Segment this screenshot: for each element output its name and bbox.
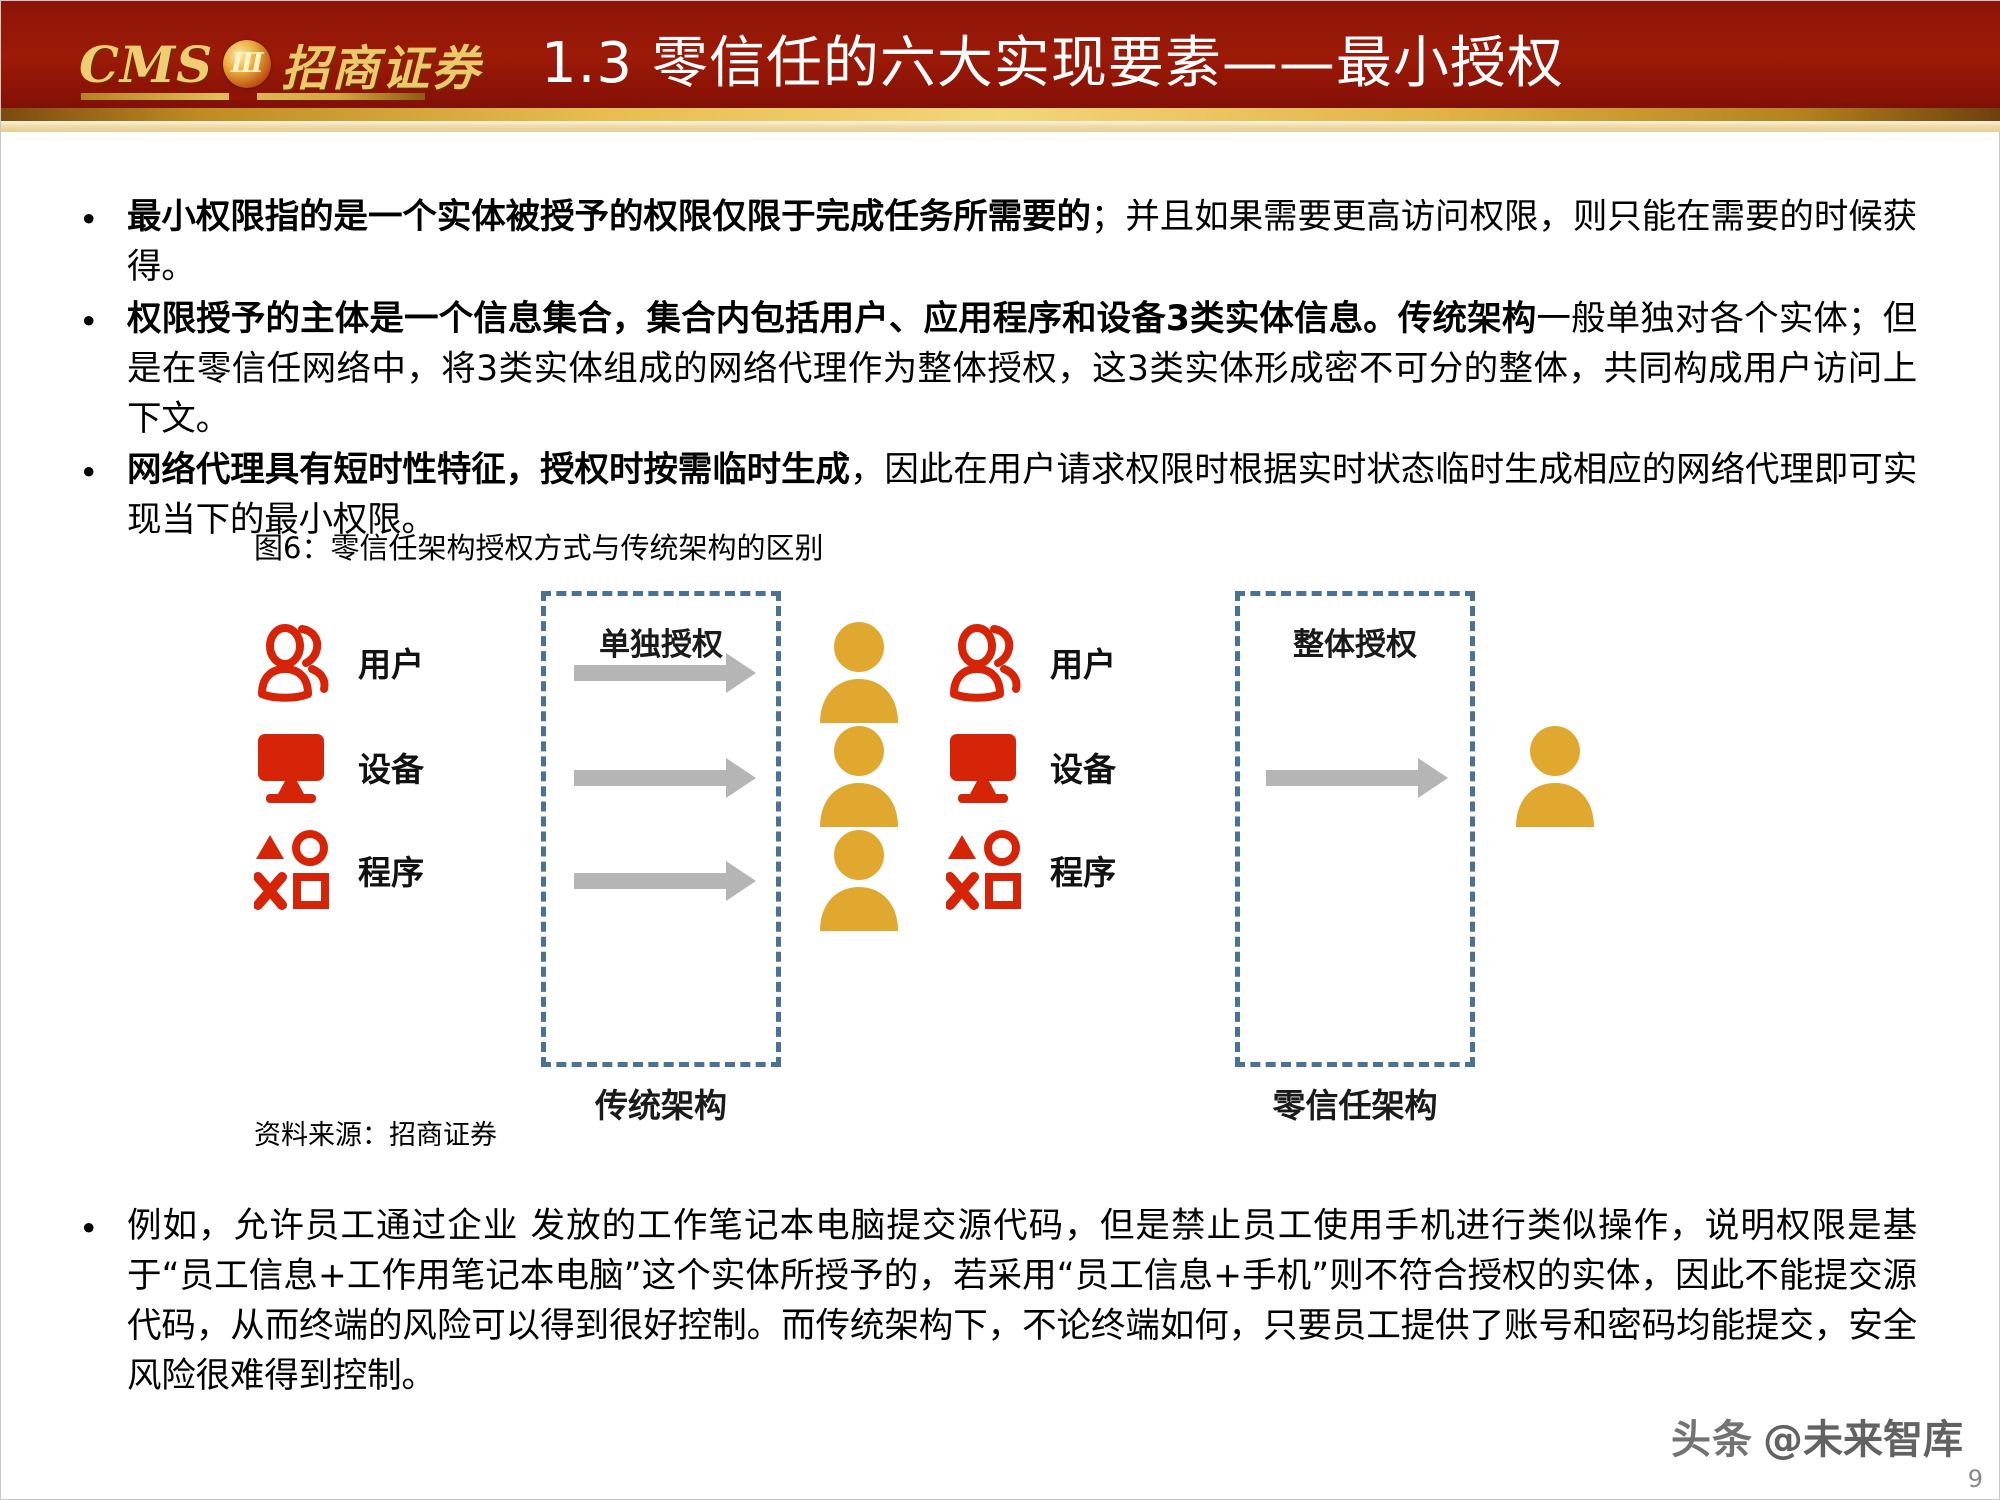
arrow-shaft: [574, 873, 726, 889]
slide-page: CMS 招商证券 1.3 零信任的六大实现要素——最小授权 • 最小权限指的是一…: [0, 0, 2000, 1500]
bullet-2-strong: 权限授予的主体是一个信息集合，集合内包括用户、应用程序和设备3类实体信息。传统架…: [127, 299, 1536, 339]
slide-header: CMS 招商证券 1.3 零信任的六大实现要素——最小授权: [1, 1, 2000, 132]
left-entity-device-label: 设备: [358, 743, 424, 791]
figure-source: 资料来源：招商证券: [254, 1113, 497, 1152]
left-entity-user: 用户: [254, 621, 424, 703]
arrow-head: [1418, 758, 1448, 798]
logo-latin-text: CMS: [79, 35, 213, 94]
arrow-program-to-target: [574, 861, 756, 901]
monitor-icon: [946, 726, 1024, 808]
arrow-head: [726, 653, 756, 693]
bullet-marker: •: [71, 445, 127, 501]
logo-chinese-text: 招商证券: [281, 29, 481, 99]
bullet-text-2: 权限授予的主体是一个信息集合，集合内包括用户、应用程序和设备3类实体信息。传统架…: [127, 294, 1917, 444]
person-icon: [816, 827, 902, 931]
figure-diagram: 单独授权 整体授权 传统架构 零信任架构 用户: [254, 571, 1674, 1091]
right-entity-program: 程序: [946, 829, 1116, 911]
bullet-3-strong: 网络代理具有短时性特征，授权时按需临时生成: [127, 450, 850, 490]
right-entity-device-label: 设备: [1050, 743, 1116, 791]
zerotrust-architecture-label: 零信任架构: [1215, 1079, 1495, 1127]
users-group-icon: [254, 621, 332, 703]
bullet-item-4: • 例如，允许员工通过企业 发放的工作笔记本电脑提交源代码，但是禁止员工使用手机…: [71, 1201, 1931, 1401]
arrow-user-to-target: [574, 653, 756, 693]
person-icon: [1512, 723, 1598, 827]
page-number: 9: [1968, 1465, 1983, 1493]
bullet-item-2: • 权限授予的主体是一个信息集合，集合内包括用户、应用程序和设备3类实体信息。传…: [71, 294, 1931, 444]
shapes-program-icon: [946, 829, 1024, 911]
right-entity-device: 设备: [946, 726, 1116, 808]
header-gold-band: [1, 108, 2000, 121]
arrow-shaft: [1266, 770, 1418, 786]
arrow-head: [726, 758, 756, 798]
header-gold-band-light: [1, 121, 2000, 132]
monitor-icon: [254, 726, 332, 808]
bullet-marker: •: [71, 192, 127, 248]
cms-logo: CMS 招商证券: [79, 29, 481, 99]
zerotrust-box-label: 整体授权: [1235, 619, 1475, 664]
watermark-account-label: @未来智库: [1763, 1407, 1963, 1465]
arrow-head: [726, 861, 756, 901]
bullet-1-strong: 最小权限指的是一个实体被授予的权限仅限于完成任务所需要的: [127, 197, 1091, 237]
users-group-icon: [946, 621, 1024, 703]
shapes-program-icon: [254, 829, 332, 911]
figure-caption: 图6：零信任架构授权方式与传统架构的区别: [254, 525, 823, 567]
bullet-text-1: 最小权限指的是一个实体被授予的权限仅限于完成任务所需要的；并且如果需要更高访问权…: [127, 192, 1917, 292]
left-entity-user-label: 用户: [358, 638, 424, 686]
right-entity-user: 用户: [946, 621, 1116, 703]
person-icon: [816, 619, 902, 723]
arrow-device-to-target: [574, 758, 756, 798]
watermark-platform-label: 头条: [1671, 1407, 1753, 1465]
logo-medallion-icon: [223, 40, 271, 88]
arrow-group-to-target: [1266, 758, 1448, 798]
right-entity-program-label: 程序: [1050, 846, 1116, 894]
bullet-item-1: • 最小权限指的是一个实体被授予的权限仅限于完成任务所需要的；并且如果需要更高访…: [71, 192, 1931, 292]
bullet-text-4: 例如，允许员工通过企业 发放的工作笔记本电脑提交源代码，但是禁止员工使用手机进行…: [127, 1201, 1917, 1401]
logo-underline-gap: [229, 93, 257, 100]
left-entity-program: 程序: [254, 829, 424, 911]
traditional-architecture-label: 传统架构: [521, 1079, 801, 1127]
person-icon: [816, 723, 902, 827]
bullet-marker: •: [71, 1201, 127, 1257]
bullet-marker: •: [71, 294, 127, 350]
arrow-shaft: [574, 770, 726, 786]
right-entity-user-label: 用户: [1050, 638, 1116, 686]
left-entity-device: 设备: [254, 726, 424, 808]
left-entity-program-label: 程序: [358, 846, 424, 894]
page-title: 1.3 零信任的六大实现要素——最小授权: [541, 29, 1564, 99]
watermark: 头条 @未来智库: [1671, 1407, 1963, 1465]
arrow-shaft: [574, 665, 726, 681]
